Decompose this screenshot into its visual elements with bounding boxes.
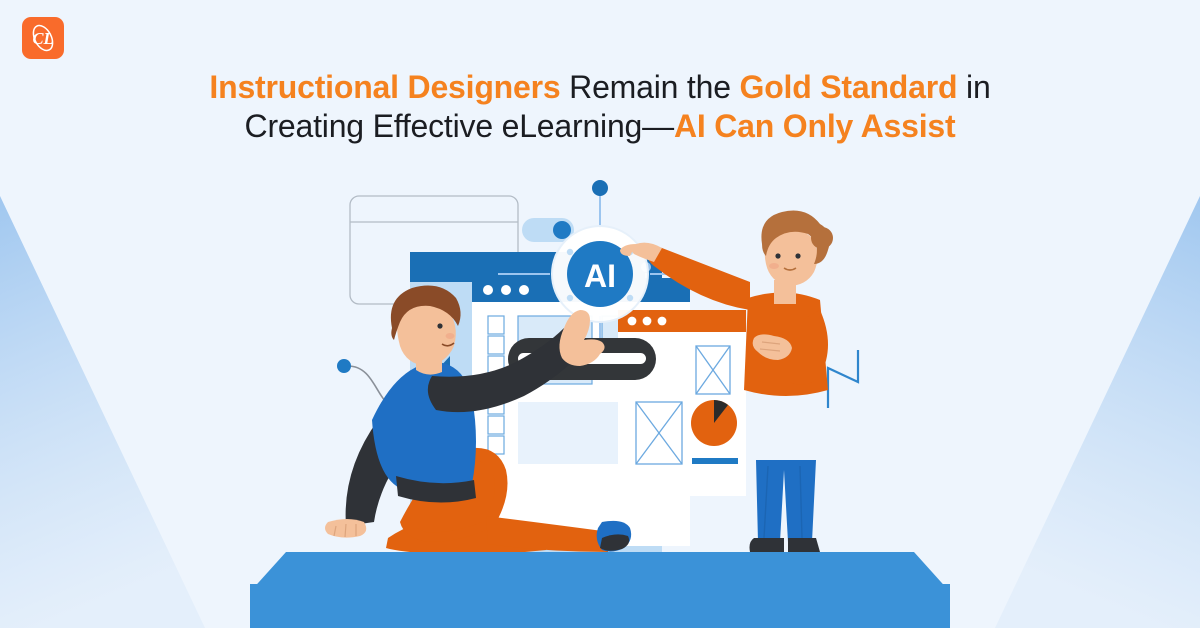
hero-illustration: AI [250, 170, 950, 628]
ai-badge-label: AI [584, 258, 616, 294]
page-title: Instructional Designers Remain the Gold … [0, 68, 1200, 147]
eye [795, 253, 800, 258]
window-dot [501, 285, 511, 295]
shoe [750, 538, 785, 552]
headline-seg-2: Remain the [560, 69, 739, 105]
pie-chart [691, 400, 737, 446]
toggle-switch[interactable] [522, 218, 574, 242]
logo-text: CL [32, 29, 53, 48]
headline-seg-6: AI Can Only Assist [674, 108, 956, 144]
zigzag-line [828, 350, 858, 408]
eye [775, 253, 780, 258]
eye [437, 323, 442, 328]
orange-dots-window [618, 310, 746, 496]
shoe [788, 538, 820, 552]
window-dot [628, 317, 637, 326]
connector-node [592, 180, 608, 196]
banner-canvas: CL Instructional Designers Remain the Go… [0, 0, 1200, 628]
ai-badge[interactable]: AI [552, 226, 648, 322]
cl-monogram-icon: CL [26, 21, 60, 55]
headline-seg-4: in [957, 69, 990, 105]
window-dot [483, 285, 493, 295]
brand-logo[interactable]: CL [22, 17, 64, 59]
headline-seg-5: Creating Effective eLearning— [245, 108, 674, 144]
floor-platform [250, 552, 950, 628]
progress-bar [692, 458, 738, 464]
window-dot [643, 317, 652, 326]
headline-line-2: Creating Effective eLearning—AI Can Only… [0, 107, 1200, 146]
headline-seg-3: Gold Standard [740, 69, 958, 105]
headline-seg-1: Instructional Designers [209, 69, 560, 105]
headline-line-1: Instructional Designers Remain the Gold … [0, 68, 1200, 107]
window-dot [658, 317, 667, 326]
window-dot [519, 285, 529, 295]
